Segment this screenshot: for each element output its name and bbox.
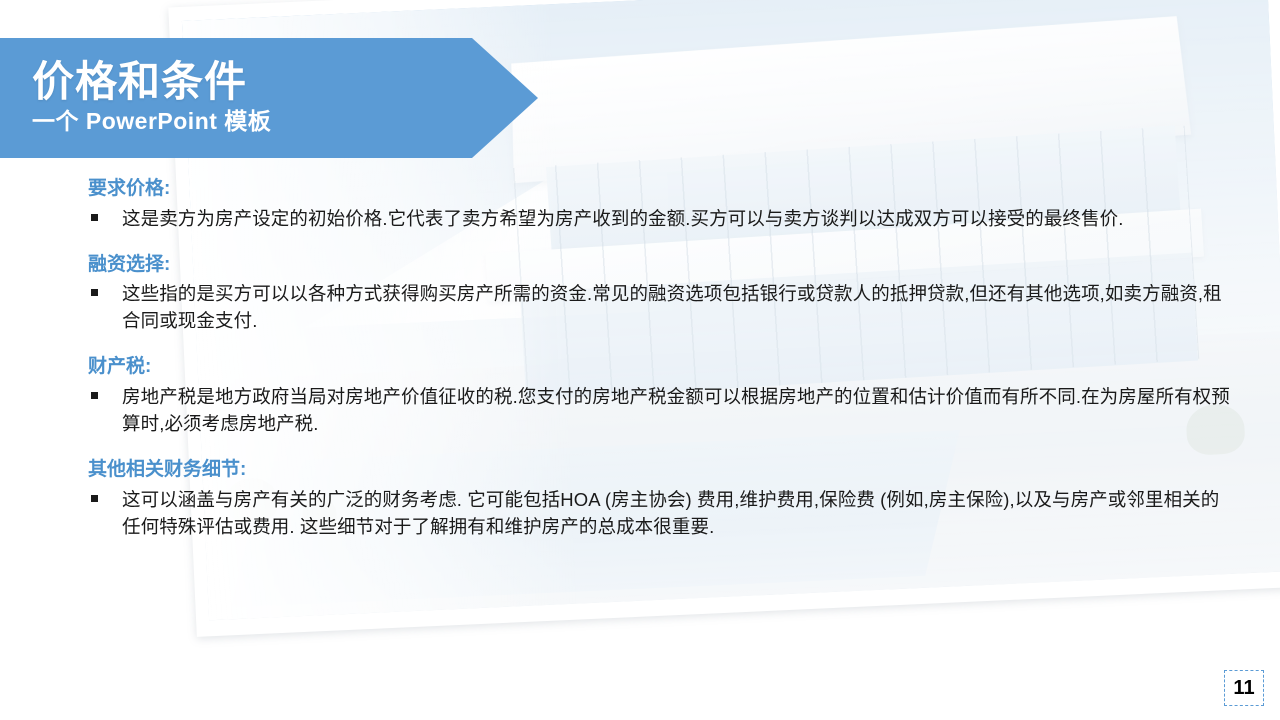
page-number-badge: 11	[1224, 670, 1264, 706]
content-section-asking-price: 要求价格: 这是卖方为房产设定的初始价格.它代表了卖方希望为房产收到的金额.买方…	[88, 176, 1234, 232]
square-bullet-icon	[91, 214, 98, 221]
bullet-text: 这是卖方为房产设定的初始价格.它代表了卖方希望为房产收到的金额.买方可以与卖方谈…	[122, 205, 1234, 232]
bullet-item: 房地产税是地方政府当局对房地产价值征收的税.您支付的房地产税金额可以根据房地产的…	[88, 383, 1234, 437]
section-heading: 财产税:	[88, 354, 1234, 380]
square-bullet-icon	[91, 289, 98, 296]
content-body: 要求价格: 这是卖方为房产设定的初始价格.它代表了卖方希望为房产收到的金额.买方…	[88, 176, 1234, 540]
section-heading: 融资选择:	[88, 252, 1234, 278]
page-subtitle: 一个 PowerPoint 模板	[32, 108, 538, 136]
title-banner: 价格和条件 一个 PowerPoint 模板	[0, 38, 538, 158]
page-title: 价格和条件	[32, 60, 538, 104]
bullet-item: 这是卖方为房产设定的初始价格.它代表了卖方希望为房产收到的金额.买方可以与卖方谈…	[88, 205, 1234, 232]
content-section-other-financial-details: 其他相关财务细节: 这可以涵盖与房产有关的广泛的财务考虑. 它可能包括HOA (…	[88, 457, 1234, 540]
bullet-item: 这可以涵盖与房产有关的广泛的财务考虑. 它可能包括HOA (房主协会) 费用,维…	[88, 486, 1234, 540]
bullet-text: 这可以涵盖与房产有关的广泛的财务考虑. 它可能包括HOA (房主协会) 费用,维…	[122, 486, 1234, 540]
square-bullet-icon	[91, 495, 98, 502]
bullet-text: 这些指的是买方可以以各种方式获得购买房产所需的资金.常见的融资选项包括银行或贷款…	[122, 280, 1234, 334]
square-bullet-icon	[91, 392, 98, 399]
bullet-item: 这些指的是买方可以以各种方式获得购买房产所需的资金.常见的融资选项包括银行或贷款…	[88, 280, 1234, 334]
bullet-text: 房地产税是地方政府当局对房地产价值征收的税.您支付的房地产税金额可以根据房地产的…	[122, 383, 1234, 437]
section-heading: 要求价格:	[88, 176, 1234, 202]
slide-canvas: 价格和条件 一个 PowerPoint 模板 要求价格: 这是卖方为房产设定的初…	[0, 0, 1280, 720]
section-heading: 其他相关财务细节:	[88, 457, 1234, 483]
content-section-financing-options: 融资选择: 这些指的是买方可以以各种方式获得购买房产所需的资金.常见的融资选项包…	[88, 252, 1234, 335]
content-section-property-tax: 财产税: 房地产税是地方政府当局对房地产价值征收的税.您支付的房地产税金额可以根…	[88, 354, 1234, 437]
